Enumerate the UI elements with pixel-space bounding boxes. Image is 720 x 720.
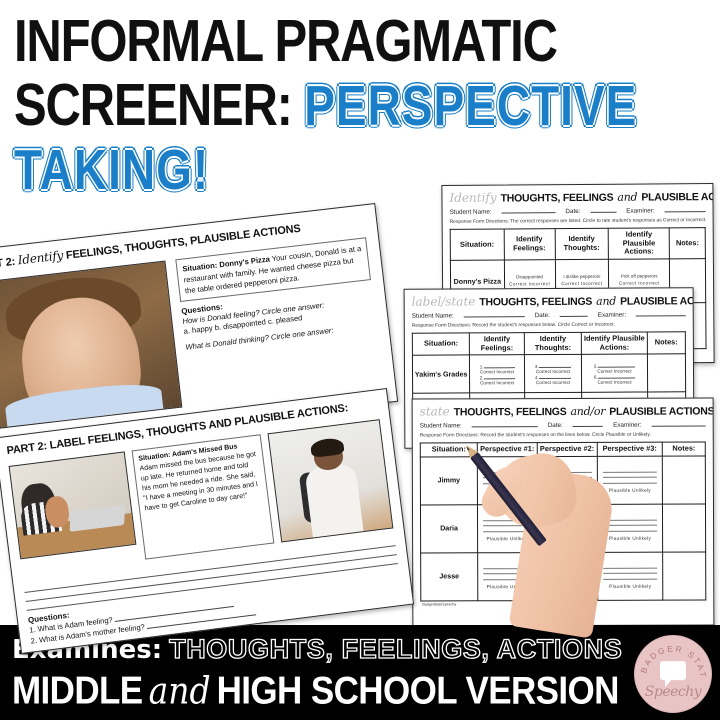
- circle-correct-incorrect[interactable]: Correct Incorrect: [471, 380, 523, 385]
- banner-examines-list: THOUGHTS, FEELINGS, ACTIONS: [169, 634, 622, 665]
- photo-teen-with-phone: [268, 419, 394, 542]
- date-input[interactable]: [560, 311, 588, 317]
- form-identify-title-end: PLAUSIBLE ACTIONS:: [641, 191, 714, 204]
- col-thoughts: Identify Thoughts:: [555, 228, 609, 259]
- col-situation: Situation:: [412, 333, 469, 355]
- form-label-script-word: label/state: [412, 294, 476, 308]
- form-identify-title-main: THOUGHTS, FEELINGS: [501, 192, 614, 205]
- form-identify-fields: Student Name: Date: Examiner:: [450, 206, 706, 216]
- date-label: Date:: [548, 422, 563, 429]
- col-notes: Notes:: [647, 332, 685, 354]
- form-state-title-main: THOUGHTS, FEELINGS: [454, 406, 567, 418]
- form-label-title-main: THOUGHTS, FEELINGS: [479, 296, 592, 309]
- row-notes[interactable]: [647, 354, 685, 392]
- col-perspective-1: Perspective #1:: [477, 443, 537, 457]
- question-2-text: What is Donald thinking?: [185, 334, 269, 353]
- speech-bubble-icon: [660, 661, 686, 680]
- student-name-input[interactable]: [502, 207, 556, 213]
- circle-plausible-unlikely[interactable]: Plausible Unlikely: [603, 583, 658, 588]
- banner-middle-text: MIDDLE: [12, 669, 143, 714]
- title-perspective-text: PERSPECTIVE: [304, 74, 637, 137]
- col-feelings: Identify Feelings:: [504, 229, 555, 260]
- form-label-amp: and: [596, 295, 616, 308]
- form-label-fields: Student Name: Date: Examiner:: [412, 310, 686, 319]
- title-screener-text: SCREENER:: [14, 72, 292, 138]
- banner-and-script: and: [149, 669, 211, 713]
- date-label: Date:: [565, 208, 580, 215]
- form-label-directions: Response Form Directions: Record the stu…: [412, 322, 686, 328]
- row-situation: Daria: [420, 504, 477, 552]
- row-actions[interactable]: 5. Correct Incorrect 6. Correct Incorrec…: [582, 354, 648, 392]
- banner-line-2: MIDDLE and HIGH SCHOOL VERSION: [12, 669, 619, 714]
- activity-identify-script-word: Identify: [17, 248, 64, 267]
- col-actions: Identify Plausible Actions:: [582, 332, 648, 354]
- circle-plausible-unlikely[interactable]: Plausible Unlikely: [603, 487, 658, 492]
- form-identify-directions: Response Form Directions: The correct re…: [450, 218, 706, 225]
- form-identify-amp: and: [617, 191, 637, 204]
- col-thoughts: Identify Thoughts:: [524, 332, 581, 354]
- circle-plausible-unlikely[interactable]: Plausible Unlikely: [603, 535, 658, 540]
- row-perspective-3[interactable]: Plausible Unlikely: [597, 552, 663, 600]
- form-identify-script-word: Identify: [449, 191, 496, 205]
- date-input[interactable]: [590, 207, 616, 213]
- col-actions: Identify Plausible Actions:: [608, 228, 669, 259]
- question-2-instruction: Circle one answer:: [271, 326, 335, 342]
- col-perspective-3: Perspective #3:: [597, 442, 663, 456]
- poster-canvas: INFORMAL PRAGMATIC SCREENER: PERSPECTIVE…: [0, 0, 720, 720]
- circle-correct-incorrect[interactable]: Correct Incorrect: [583, 379, 646, 384]
- examiner-input[interactable]: [636, 310, 686, 316]
- form-state-title: state THOUGHTS, FEELINGS and/or PLAUSIBL…: [420, 404, 706, 419]
- form-state-fields: Student Name: Date: Examiner:: [420, 421, 706, 430]
- examiner-label: Examiner:: [598, 312, 626, 319]
- examiner-label: Examiner:: [613, 422, 641, 429]
- brand-logo: BADGER STATE Speechy: [634, 635, 712, 713]
- examiner-label: Examiner:: [626, 207, 654, 214]
- table-header-row: Situation: Identify Feelings: Identify T…: [412, 332, 685, 355]
- examiner-input[interactable]: [665, 206, 706, 212]
- examiner-input[interactable]: [652, 421, 706, 427]
- title-line-2: SCREENER: PERSPECTIVE: [14, 76, 714, 135]
- row-situation: Jesse: [421, 552, 478, 600]
- form-identify-title: Identify THOUGHTS, FEELINGS and PLAUSIBL…: [449, 189, 705, 205]
- poster-title: INFORMAL PRAGMATIC SCREENER: PERSPECTIVE…: [14, 12, 714, 204]
- student-name-label: Student Name:: [412, 312, 454, 319]
- form-state-amp: and/or: [570, 405, 605, 418]
- student-name-label: Student Name:: [420, 422, 462, 429]
- form-label-title-end: PLAUSIBLE ACTIONS:: [620, 295, 694, 308]
- logo-speechy-text: Speechy: [635, 684, 711, 700]
- circle-correct-incorrect[interactable]: Correct Incorrect: [526, 379, 580, 384]
- form-state-directions: Response Form Directions: Record the stu…: [420, 433, 706, 439]
- title-line-1: INFORMAL PRAGMATIC: [14, 12, 714, 71]
- student-name-label: Student Name:: [450, 209, 492, 216]
- row-situation: Jimmy: [420, 456, 477, 504]
- photo-mother-working: [9, 451, 137, 559]
- banner-highschool-text: HIGH SCHOOL VERSION: [217, 669, 619, 714]
- student-name-input[interactable]: [464, 311, 525, 317]
- student-name-input[interactable]: [472, 421, 538, 427]
- table-row: Yakim's Grades 1. Correct Incorrect 2. C…: [412, 354, 685, 393]
- col-notes: Notes:: [662, 442, 705, 456]
- row-notes[interactable]: [663, 456, 706, 504]
- activity-identify-part-label: PART 2:: [0, 256, 16, 273]
- date-input[interactable]: [573, 421, 603, 427]
- col-feelings: Identify Feelings:: [470, 333, 525, 355]
- form-state-title-end: PLAUSIBLE ACTIONS:: [609, 405, 714, 417]
- situation-box-adam: Situation: Adam's Missed Bus Adam missed…: [131, 434, 274, 560]
- form-label-title: label/state THOUGHTS, FEELINGS and PLAUS…: [412, 293, 686, 308]
- row-feelings[interactable]: 1. Correct Incorrect 2. Correct Incorrec…: [470, 355, 525, 393]
- photo-boy-thinking: [0, 260, 182, 428]
- row-situation: Yakim's Grades: [412, 355, 470, 393]
- col-situation: Situation:: [450, 229, 504, 260]
- title-taking-text: TAKING!: [14, 138, 209, 201]
- row-notes[interactable]: [663, 504, 706, 552]
- form-state-script-word: state: [420, 404, 450, 418]
- row-notes[interactable]: [663, 552, 706, 600]
- table-header-row: Situation: Identify Feelings: Identify T…: [450, 228, 705, 260]
- row-thoughts[interactable]: 3. Correct Incorrect 4. Correct Incorrec…: [524, 354, 582, 392]
- date-label: Date:: [535, 312, 550, 319]
- col-notes: Notes:: [669, 228, 705, 259]
